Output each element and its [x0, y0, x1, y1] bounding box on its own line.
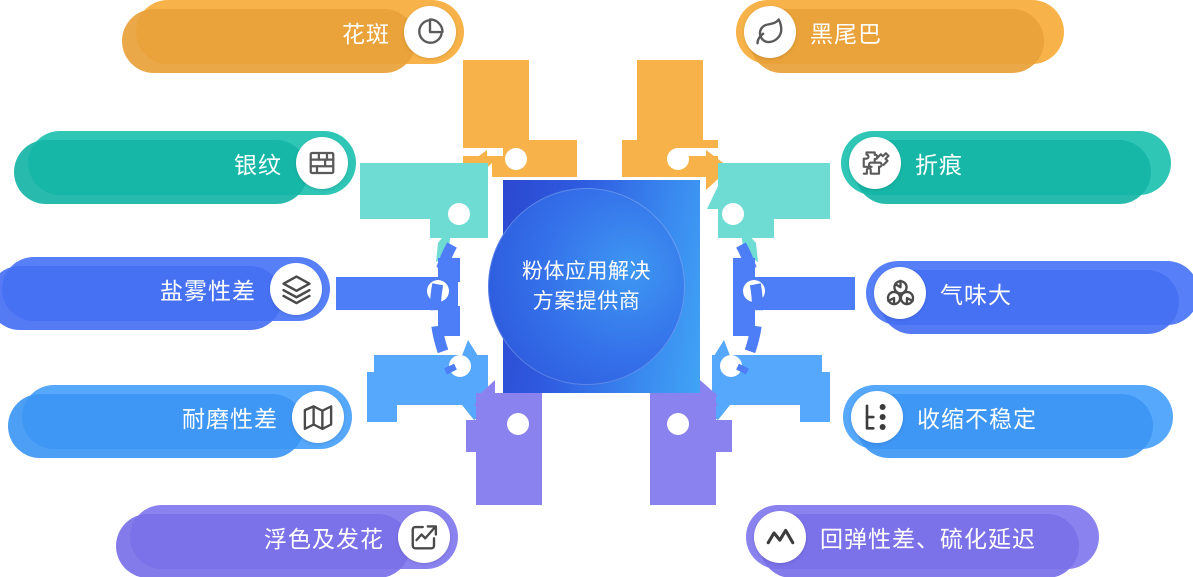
infographic-canvas: 粉体应用解决 方案提供商 花斑银纹盐雾性差耐磨性差浮色及发花黑尾巴折痕气味大收缩…: [0, 0, 1193, 577]
connector-hei-wei-ba: [622, 60, 730, 190]
pill-label: 耐磨性差: [182, 400, 278, 434]
layers-icon: [270, 263, 322, 315]
pill-nai-mo-xing-cha[interactable]: 耐磨性差: [22, 385, 352, 449]
pill-label: 银纹: [234, 146, 282, 180]
pill-fu-se-ji-fa-hua[interactable]: 浮色及发花: [130, 505, 458, 569]
connector-qi-wei-da: [733, 258, 855, 336]
pill-label: 回弹性差、硫化延迟: [820, 520, 1036, 554]
pill-hua-ban[interactable]: 花斑: [136, 0, 464, 64]
pill-yin-wen[interactable]: 银纹: [28, 131, 356, 195]
pill-label: 盐雾性差: [160, 272, 256, 306]
connector-hua-ban: [463, 60, 577, 190]
pie-chart-icon: [404, 6, 456, 58]
leaf-icon: [744, 6, 796, 58]
dashed-arc-right: [741, 245, 758, 372]
pill-label: 气味大: [940, 276, 1012, 310]
connector-yan-wu-xing-cha: [336, 258, 460, 336]
brick-wall-icon: [296, 137, 348, 189]
pill-zhe-hen[interactable]: 折痕: [841, 131, 1171, 195]
connector-hui-tan-xing-cha: [650, 380, 732, 505]
map-icon: [292, 391, 344, 443]
pill-label: 收缩不稳定: [917, 400, 1037, 434]
pill-qi-wei-da[interactable]: 气味大: [866, 261, 1193, 325]
connector-fu-se-ji-fa-hua: [466, 380, 542, 505]
connector-yin-wen: [360, 163, 488, 262]
pill-yan-wu-xing-cha[interactable]: 盐雾性差: [2, 257, 330, 321]
pill-label: 折痕: [915, 146, 963, 180]
activity-icon: [754, 511, 806, 563]
trending-up-icon: [398, 511, 450, 563]
connector-nai-mo-xing-cha: [367, 340, 488, 422]
sitemap-icon: [851, 391, 903, 443]
center-title-line-1: 粉体应用解决: [522, 257, 651, 287]
connector-zhe-hen: [707, 163, 830, 262]
connector-shou-suo-bu-wen-ding: [706, 340, 830, 422]
recycle-icon: [874, 267, 926, 319]
center-title: 粉体应用解决 方案提供商: [488, 188, 685, 385]
pill-label: 花斑: [342, 15, 390, 49]
pill-label: 黑尾巴: [810, 15, 882, 49]
pill-shou-suo-bu-wen-ding[interactable]: 收缩不稳定: [843, 385, 1173, 449]
pill-hei-wei-ba[interactable]: 黑尾巴: [736, 0, 1064, 64]
pill-label: 浮色及发花: [264, 520, 384, 554]
dashed-arc-left: [436, 245, 453, 372]
center-title-line-2: 方案提供商: [533, 287, 641, 317]
pill-shadow: [880, 270, 1179, 334]
puzzle-icon: [849, 137, 901, 189]
pill-hui-tan-xing-cha[interactable]: 回弹性差、硫化延迟: [746, 505, 1099, 569]
